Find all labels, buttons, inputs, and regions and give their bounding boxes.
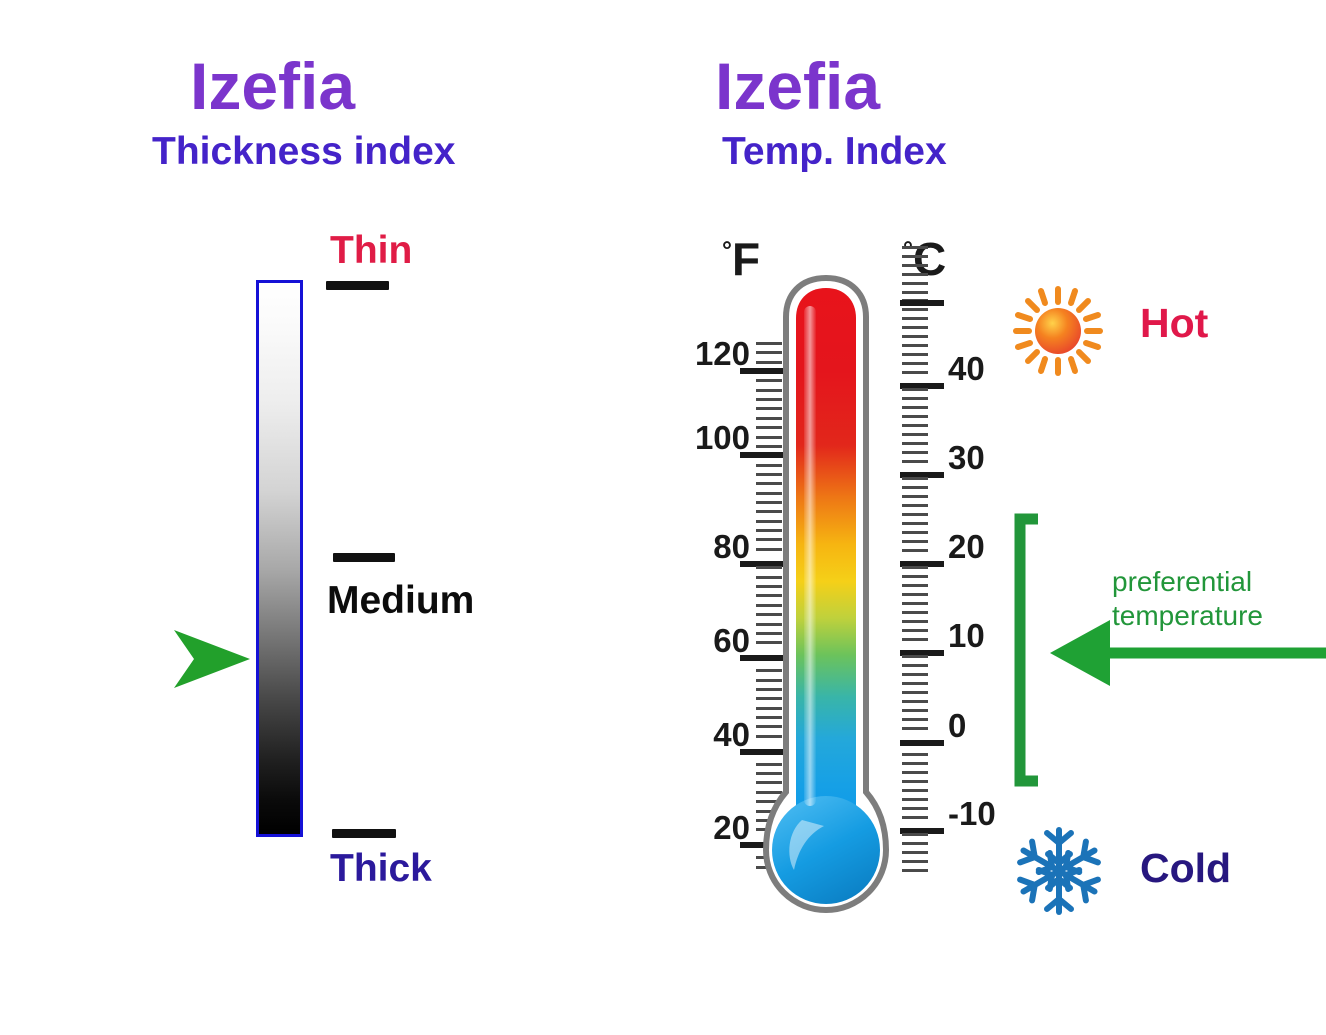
- celsius-minor-tick: [902, 727, 928, 730]
- celsius-minor-tick: [902, 415, 928, 418]
- celsius-minor-tick: [902, 291, 928, 294]
- celsius-minor-tick: [902, 353, 928, 356]
- celsius-minor-tick: [902, 780, 928, 783]
- celsius-minor-tick: [902, 700, 928, 703]
- medium-label: Medium: [327, 579, 474, 623]
- celsius-minor-tick: [902, 664, 928, 667]
- tube-gloss: [804, 306, 816, 806]
- thick-label: Thick: [330, 847, 432, 891]
- celsius-minor-tick: [902, 842, 928, 845]
- cold-label: Cold: [1140, 845, 1231, 892]
- hot-label: Hot: [1140, 300, 1208, 347]
- celsius-minor-tick: [902, 317, 928, 320]
- thickness-gradient-bar: [256, 280, 303, 837]
- celsius-minor-tick: [902, 566, 928, 569]
- preferential-line-1: preferential: [1112, 565, 1326, 599]
- left-arrow-icon: [1050, 620, 1110, 686]
- preferential-line-2: temperature: [1112, 599, 1326, 633]
- celsius-minor-tick: [902, 308, 928, 311]
- celsius-minor-tick: [902, 807, 928, 810]
- celsius-minor-tick: [902, 433, 928, 436]
- celsius-minor-tick: [902, 851, 928, 854]
- celsius-minor-tick: [902, 495, 928, 498]
- celsius-minor-tick: [902, 264, 928, 267]
- thin-tick-mark: [326, 281, 389, 290]
- celsius-minor-tick: [902, 584, 928, 587]
- celsius-minor-tick: [902, 816, 928, 819]
- celsius-minor-tick: [902, 753, 928, 756]
- right-arrow-icon: [172, 628, 254, 690]
- celsius-minor-tick: [902, 371, 928, 374]
- celsius-minor-tick: [902, 833, 928, 836]
- celsius-minor-tick: [902, 273, 928, 276]
- celsius-minor-tick: [902, 362, 928, 365]
- celsius-tick-label: -10: [948, 795, 996, 833]
- celsius-tick-label: 20: [948, 528, 985, 566]
- thickness-index-panel: Izefia Thickness index Thin Medium Thick: [0, 0, 663, 1035]
- celsius-minor-tick: [902, 869, 928, 872]
- celsius-minor-tick: [902, 344, 928, 347]
- celsius-minor-tick: [902, 638, 928, 641]
- preferential-temperature-label: preferential temperature: [1112, 565, 1326, 634]
- celsius-minor-tick: [902, 602, 928, 605]
- thermometer-bulb: [772, 796, 880, 904]
- celsius-minor-tick: [902, 326, 928, 329]
- snowflake-icon: [1013, 825, 1105, 917]
- sun-disc: [1035, 308, 1081, 354]
- celsius-minor-tick: [902, 451, 928, 454]
- celsius-minor-tick: [902, 460, 928, 463]
- celsius-minor-tick: [902, 718, 928, 721]
- thickness-brand-title: Izefia: [190, 48, 355, 124]
- celsius-minor-tick: [902, 771, 928, 774]
- celsius-minor-tick: [902, 442, 928, 445]
- celsius-minor-tick: [902, 549, 928, 552]
- celsius-minor-tick: [902, 789, 928, 792]
- celsius-minor-tick: [902, 522, 928, 525]
- celsius-minor-tick: [902, 673, 928, 676]
- temperature-brand-title: Izefia: [715, 48, 880, 124]
- celsius-minor-tick: [902, 513, 928, 516]
- celsius-minor-tick: [902, 620, 928, 623]
- celsius-minor-tick: [902, 655, 928, 658]
- celsius-minor-tick: [902, 397, 928, 400]
- thick-tick-mark: [332, 829, 396, 838]
- sun-icon: [1012, 285, 1104, 377]
- celsius-tick-label: 0: [948, 707, 966, 745]
- celsius-minor-tick: [902, 486, 928, 489]
- celsius-minor-tick: [902, 762, 928, 765]
- celsius-minor-tick: [902, 709, 928, 712]
- celsius-minor-tick: [902, 611, 928, 614]
- celsius-minor-tick: [902, 406, 928, 409]
- medium-tick-mark: [333, 553, 395, 562]
- celsius-minor-tick: [902, 477, 928, 480]
- celsius-minor-tick: [902, 593, 928, 596]
- celsius-minor-tick: [902, 531, 928, 534]
- celsius-tick-label: 10: [948, 617, 985, 655]
- celsius-minor-tick: [902, 682, 928, 685]
- celsius-minor-tick: [902, 388, 928, 391]
- celsius-minor-tick: [902, 860, 928, 863]
- preferential-bracket-group: [1010, 505, 1326, 795]
- celsius-minor-tick: [902, 246, 928, 249]
- celsius-scale: 403020100-10: [900, 250, 1000, 850]
- thin-label: Thin: [330, 229, 412, 273]
- celsius-minor-tick: [902, 504, 928, 507]
- celsius-minor-tick: [902, 798, 928, 801]
- celsius-minor-tick: [902, 424, 928, 427]
- celsius-top-tick: [900, 300, 944, 306]
- celsius-major-tick: [900, 740, 944, 746]
- celsius-minor-tick: [902, 691, 928, 694]
- celsius-tick-label: 40: [948, 350, 985, 388]
- celsius-minor-tick: [902, 335, 928, 338]
- temperature-subtitle: Temp. Index: [722, 130, 947, 174]
- celsius-minor-tick: [902, 282, 928, 285]
- celsius-minor-tick: [902, 629, 928, 632]
- preferential-range-bracket: [1020, 519, 1038, 781]
- celsius-minor-tick: [902, 540, 928, 543]
- thickness-subtitle: Thickness index: [152, 130, 455, 174]
- celsius-minor-tick: [902, 255, 928, 258]
- celsius-minor-tick: [902, 575, 928, 578]
- thermometer-graphic: [762, 272, 890, 944]
- celsius-tick-label: 30: [948, 439, 985, 477]
